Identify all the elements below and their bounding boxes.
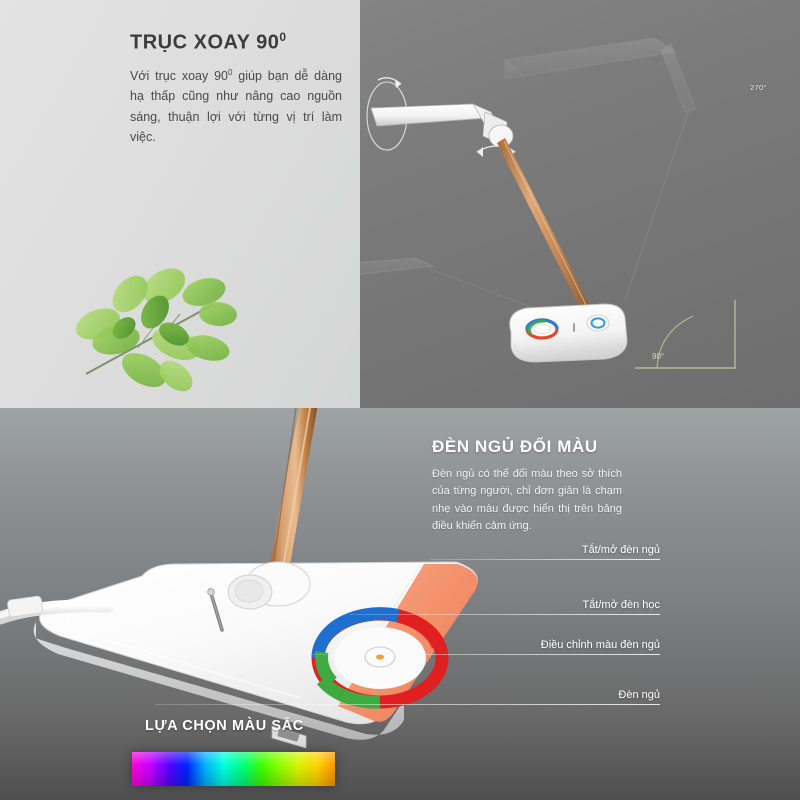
angle-guide-90 [635,300,735,368]
callout-label: Đèn ngủ [618,689,660,701]
color-selection-title: LỰA CHỌN MÀU SẮC [145,718,304,734]
lamp-diagram-svg [355,0,800,408]
ghost-arm-positions [505,38,695,300]
pole-joint-top [587,315,609,331]
rotation-description-part1: Với trục xoay 90 [130,69,228,83]
callout-leader-line [155,704,660,705]
color-spectrum-bar[interactable] [132,752,335,786]
nightlight-description: Đèn ngủ có thể đổi màu theo sở thích của… [432,466,622,536]
rotation-title-text: TRỤC XOAY 90 [130,32,279,54]
product-infographic: 270° 90° 90° TRỤC XOAY 900 Với trục xoay… [0,0,800,800]
lamp-pole [497,138,591,313]
top-section: 270° 90° 90° TRỤC XOAY 900 Với trục xoay… [0,0,800,408]
rotation-270-label: 270° [750,83,767,92]
rotation-title: TRỤC XOAY 900 [130,30,287,55]
rotation-title-degree: 0 [279,30,286,44]
lamp-rotation-diagram: 270° 90° [355,0,800,408]
lamp-head-arm [371,104,513,147]
callout-label: Tắt/mở đèn học [582,599,660,611]
power-indicator-top [573,323,575,332]
callout-label: Điều chỉnh màu đèn ngủ [541,639,660,651]
callout-leader-line [305,654,660,655]
lamp-pole-bottom [268,408,318,576]
callout-leader-line [350,614,660,615]
feature-card-rotation: TRỤC XOAY 900 Với trục xoay 900 giúp bạn… [0,0,360,408]
angle-guide-90-label: 90° [652,352,664,361]
leaf-branch-illustration [58,252,248,402]
rotation-description: Với trục xoay 900 giúp bạn dễ dàng hạ th… [130,66,342,147]
callout-leader-line [430,559,660,560]
callout-label: Tắt/mở đèn ngủ [582,544,660,556]
nightlight-title: ĐÈN NGỦ ĐỔI MÀU [432,437,598,457]
